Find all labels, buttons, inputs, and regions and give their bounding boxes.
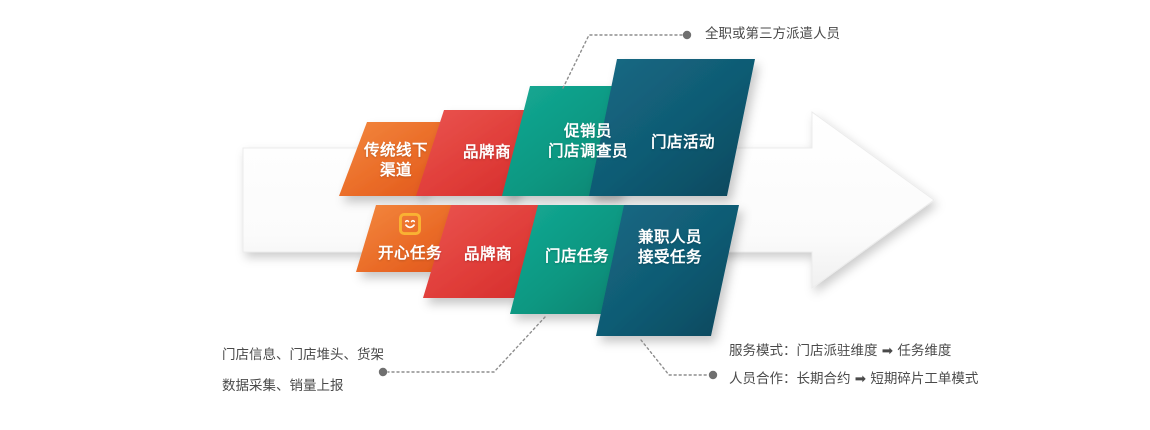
- connector-dot-bottom-right: [709, 371, 717, 379]
- connector-dot-top-right: [683, 31, 691, 39]
- connector-bottom-right: [641, 340, 708, 375]
- smiley-face-icon: [399, 213, 421, 235]
- annotation-staffing: 全职或第三方派遣人员: [705, 24, 840, 45]
- top-row-shapes: [339, 59, 755, 196]
- step-shape-top-4[interactable]: [589, 59, 755, 196]
- annotation-data-collection: 门店信息、门店堆头、货架 数据采集、销量上报: [222, 345, 384, 397]
- annotation-data-collection-line2: 数据采集、销量上报: [222, 376, 384, 397]
- connector-bottom-left: [388, 317, 545, 372]
- annotation-service-model-line2: 人员合作：长期合约 ➡ 短期碎片工单模式: [729, 369, 978, 390]
- annotation-data-collection-line1: 门店信息、门店堆头、货架: [222, 345, 384, 366]
- annotation-staffing-line1: 全职或第三方派遣人员: [705, 24, 840, 45]
- annotation-service-model: 服务模式：门店派驻维度 ➡ 任务维度 人员合作：长期合约 ➡ 短期碎片工单模式: [729, 341, 978, 390]
- diagram-canvas: 传统线下 渠道 品牌商 促销员 门店调查员 门店活动 开心任务 品牌商 门店任务…: [0, 0, 1150, 430]
- annotation-service-model-line1: 服务模式：门店派驻维度 ➡ 任务维度: [729, 341, 978, 362]
